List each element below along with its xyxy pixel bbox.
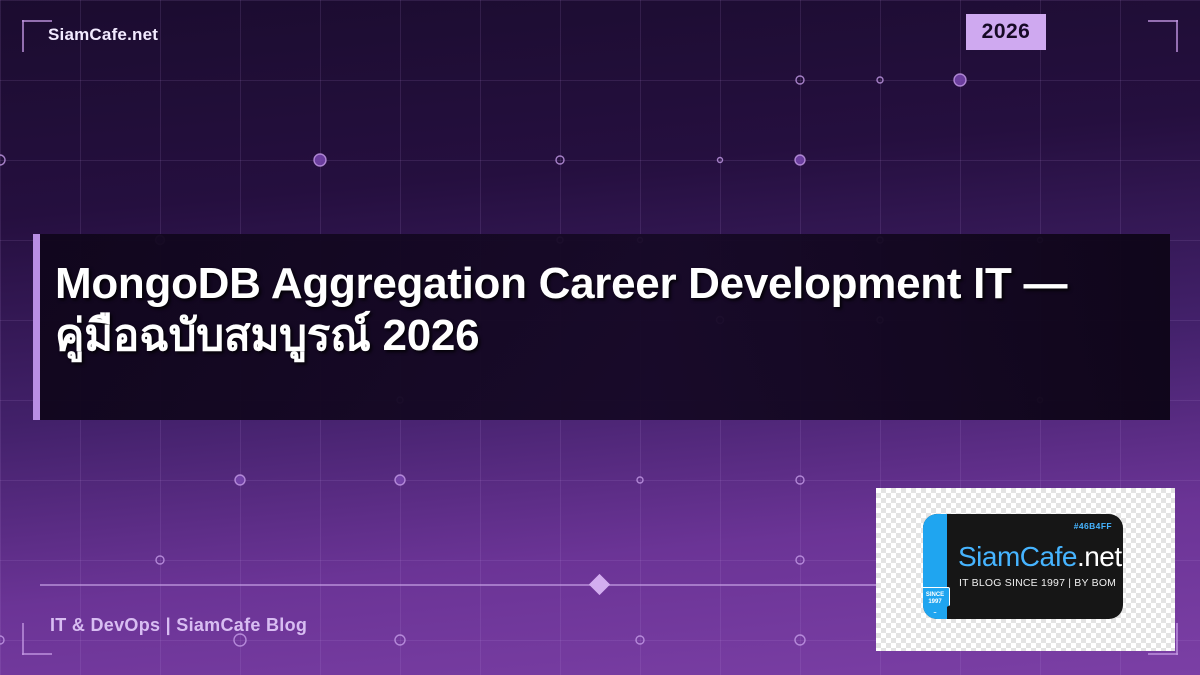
decor-dot: [795, 635, 805, 645]
logo-inner-panel: SINCE 1997 #46B4FF SiamCafe.net IT BLOG …: [923, 514, 1123, 619]
decor-dot: [636, 636, 644, 644]
decor-dot: [156, 556, 164, 564]
since-year: 1997: [923, 599, 949, 606]
decor-dot: [795, 155, 805, 165]
footer-label: IT & DevOps | SiamCafe Blog: [50, 615, 307, 636]
decor-dot: [796, 556, 804, 564]
logo-blue-stripe: SINCE 1997: [923, 514, 947, 619]
wordmark-primary: SiamCafe: [958, 541, 1077, 572]
bracket-line-vertical: [1176, 20, 1178, 52]
decor-dot: [796, 76, 804, 84]
wordmark-suffix: .net: [1077, 541, 1122, 572]
decor-dot: [395, 635, 405, 645]
decor-dot: [637, 477, 643, 483]
decor-dot: [556, 156, 564, 164]
diamond-marker-icon: [589, 574, 610, 595]
hex-code-label: #46B4FF: [1074, 521, 1112, 531]
decor-dot: [235, 475, 245, 485]
decor-dot: [395, 475, 405, 485]
decor-dot: [718, 158, 723, 163]
decor-dot: [314, 154, 326, 166]
logo-wordmark: SiamCafe.net: [958, 541, 1122, 573]
logo-body: #46B4FF SiamCafe.net IT BLOG SINCE 1997 …: [947, 514, 1123, 619]
decor-dot: [0, 636, 4, 644]
page-title: MongoDB Aggregation Career Development I…: [55, 258, 1155, 362]
bracket-line-horizontal: [1148, 653, 1178, 655]
since-label: SINCE: [923, 592, 949, 599]
decor-dot: [0, 155, 5, 165]
bracket-line-horizontal: [22, 653, 52, 655]
decor-dot: [877, 77, 883, 83]
logo-tagline: IT BLOG SINCE 1997 | BY BOM: [959, 577, 1116, 589]
bracket-line-vertical: [22, 20, 24, 52]
year-badge: 2026: [966, 14, 1046, 50]
accent-bar: [33, 234, 40, 420]
bracket-line-vertical: [22, 623, 24, 655]
decor-dot: [954, 74, 966, 86]
banner-canvas: SiamCafe.net 2026 MongoDB Aggregation Ca…: [0, 0, 1200, 675]
since-ribbon-icon: SINCE 1997: [923, 587, 950, 613]
corner-bracket-top-right: [1148, 20, 1178, 52]
bracket-line-vertical: [1176, 623, 1178, 655]
bracket-line-horizontal: [22, 20, 52, 22]
site-name: SiamCafe.net: [48, 25, 158, 45]
decor-dot: [796, 476, 804, 484]
corner-bracket-bottom-left: [22, 623, 52, 655]
bracket-line-horizontal: [1148, 20, 1178, 22]
logo-card: SINCE 1997 #46B4FF SiamCafe.net IT BLOG …: [876, 488, 1175, 651]
